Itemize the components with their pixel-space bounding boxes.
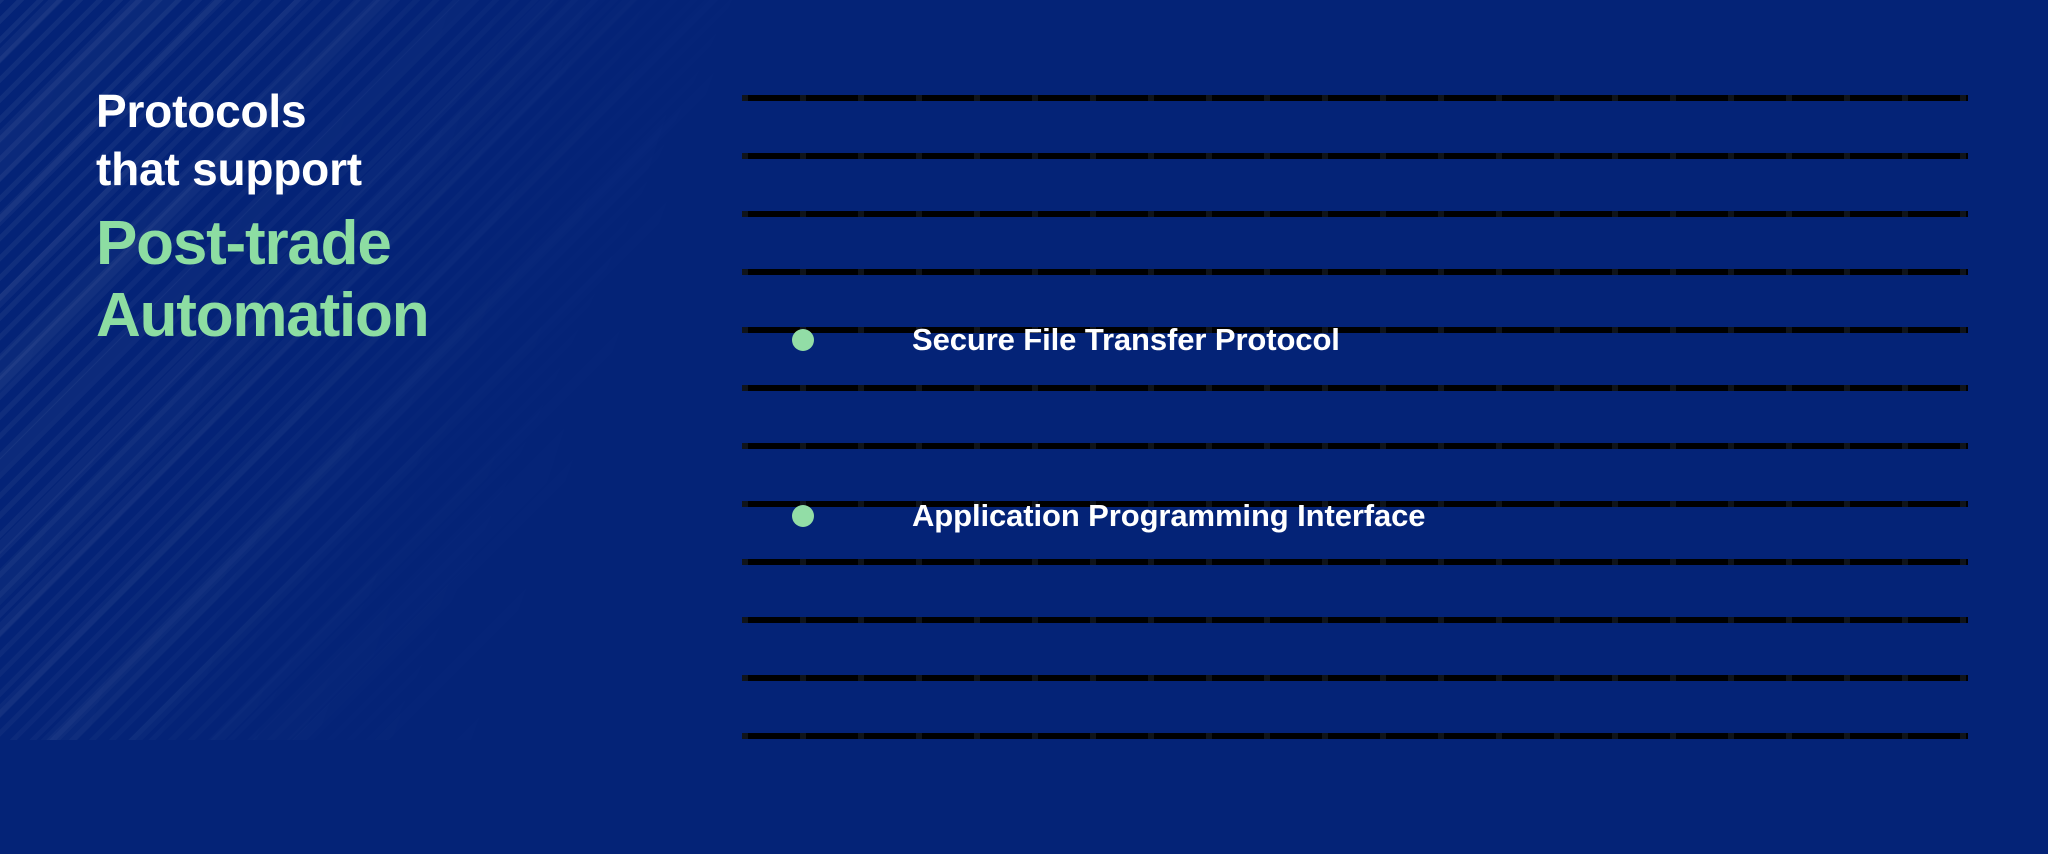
list-item-label: Secure File Transfer Protocol <box>912 322 1340 358</box>
headline-line-1: Protocols <box>96 82 716 140</box>
list-item: Application Programming Interface <box>792 476 1942 556</box>
list-item: Secure File Transfer Protocol <box>792 300 1942 380</box>
slide-content: Protocols that support Post-trade Automa… <box>0 0 2048 854</box>
protocol-list: Secure File Transfer Protocol Applicatio… <box>792 300 1942 556</box>
slide-root: Protocols that support Post-trade Automa… <box>0 0 2048 854</box>
bullet-dot-icon <box>792 329 814 351</box>
headline-line-2: that support <box>96 140 716 198</box>
headline-emphasis-line-1: Post-trade <box>96 208 716 280</box>
page-title: Protocols that support Post-trade Automa… <box>96 82 716 352</box>
headline-emphasis-line-2: Automation <box>96 280 716 352</box>
list-item-label: Application Programming Interface <box>912 498 1425 534</box>
bullet-dot-icon <box>792 505 814 527</box>
